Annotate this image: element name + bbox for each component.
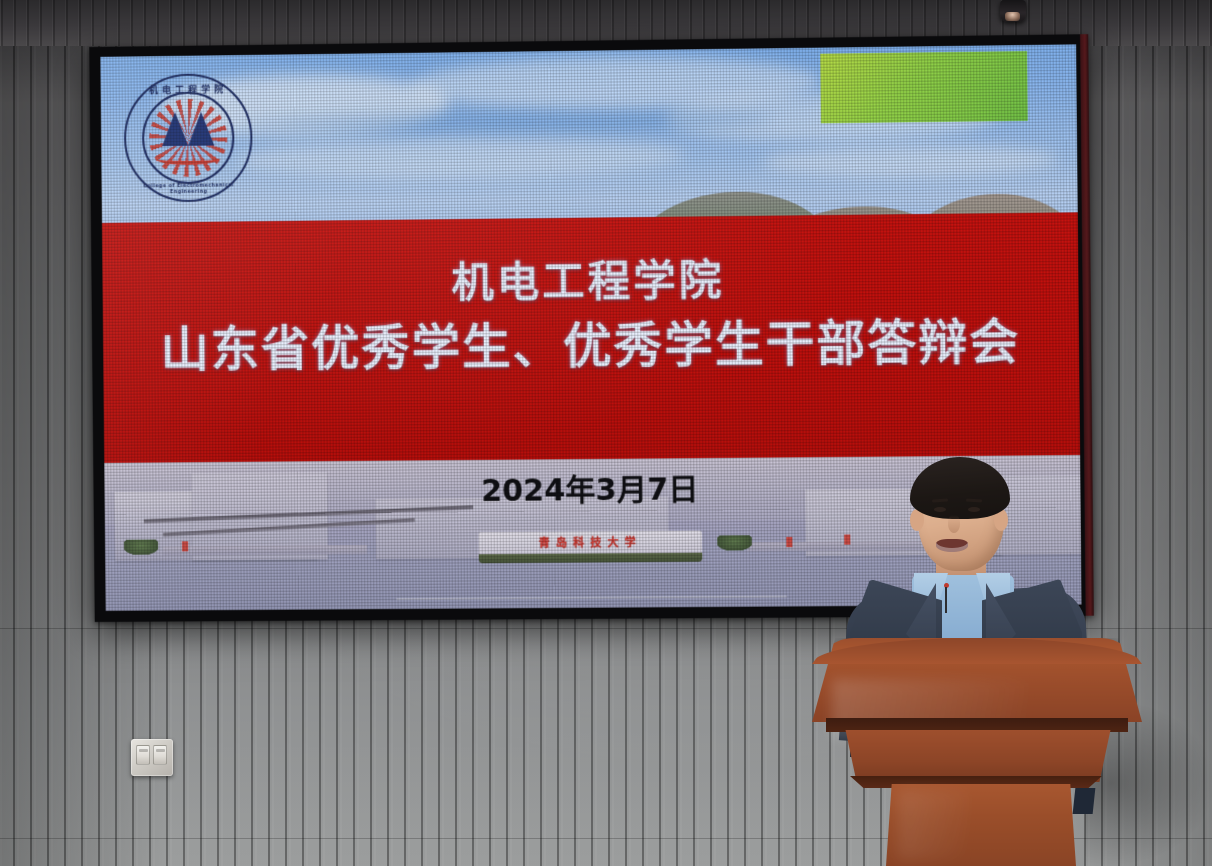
- light-switch-rocker-left[interactable]: [136, 745, 150, 765]
- conference-room-scene: 机电工程学院 College of Electromechanical Engi…: [0, 0, 1212, 866]
- spotlight-icon: [1000, 0, 1026, 22]
- slide-subtitle: 山东省优秀学生、优秀学生干部答辩会: [103, 301, 1079, 381]
- green-screen-artifact: [820, 51, 1027, 124]
- campus-gate-text: 青岛科技大学: [539, 534, 642, 551]
- lectern-mid-band: [840, 730, 1116, 782]
- double-rocker-light-switch[interactable]: [131, 739, 173, 776]
- campus-gate: 青岛科技大学: [478, 531, 703, 555]
- seal-english-text: College of Electromechanical Engineering: [130, 182, 248, 195]
- presenter-hair: [910, 457, 1010, 519]
- seal-monogram-icon: [160, 111, 217, 154]
- college-seal-logo: 机电工程学院 College of Electromechanical Engi…: [124, 73, 253, 203]
- wooden-lectern: [812, 638, 1142, 866]
- light-switch-rocker-right[interactable]: [153, 745, 167, 765]
- slide-red-banner: 机电工程学院 山东省优秀学生、优秀学生干部答辩会: [102, 212, 1080, 462]
